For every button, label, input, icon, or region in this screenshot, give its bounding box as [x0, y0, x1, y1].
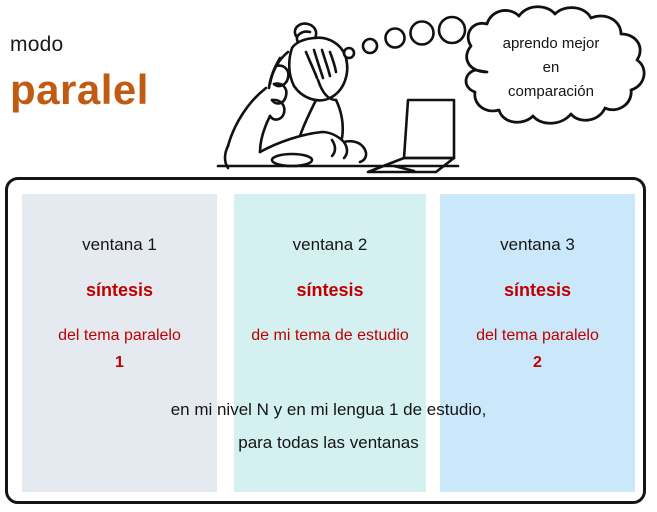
window-1-label: ventana 1 [22, 235, 217, 255]
window-1-description: del tema paralelo 1 [22, 322, 217, 376]
window-2-label: ventana 2 [234, 235, 426, 255]
page-title: paralel [10, 66, 149, 114]
window-1-desc-line-1: del tema paralelo [58, 327, 181, 344]
thought-line-2: en [460, 56, 642, 80]
window-1-desc-line-2: 1 [22, 349, 217, 376]
window-2-description: de mi tema de estudio [234, 322, 426, 349]
window-2-desc-line-2: de estudio [335, 327, 409, 344]
header-kicker: modo [10, 33, 63, 57]
windows-panel: ventana 1 síntesis del tema paralelo 1 v… [5, 177, 646, 504]
thought-line-1: aprendo mejor [460, 32, 642, 56]
window-3-label: ventana 3 [440, 235, 635, 255]
window-3-heading: síntesis [440, 280, 635, 301]
footer-line-2: para todas las ventanas [8, 426, 649, 459]
window-2-heading: síntesis [234, 280, 426, 301]
window-3-desc-line-2: 2 [440, 349, 635, 376]
window-1-heading: síntesis [22, 280, 217, 301]
window-3-description: del tema paralelo 2 [440, 322, 635, 376]
panel-footer-caption: en mi nivel N y en mi lengua 1 de estudi… [8, 393, 649, 459]
footer-line-1: en mi nivel N y en mi lengua 1 de estudi… [8, 393, 649, 426]
window-2-desc-line-1: de mi tema [251, 327, 330, 344]
slide-canvas: modo paralel [0, 0, 657, 512]
thought-line-3: comparación [460, 80, 642, 104]
window-3-desc-line-1: del tema paralelo [476, 327, 599, 344]
thought-bubble-text: aprendo mejor en comparación [460, 32, 642, 104]
